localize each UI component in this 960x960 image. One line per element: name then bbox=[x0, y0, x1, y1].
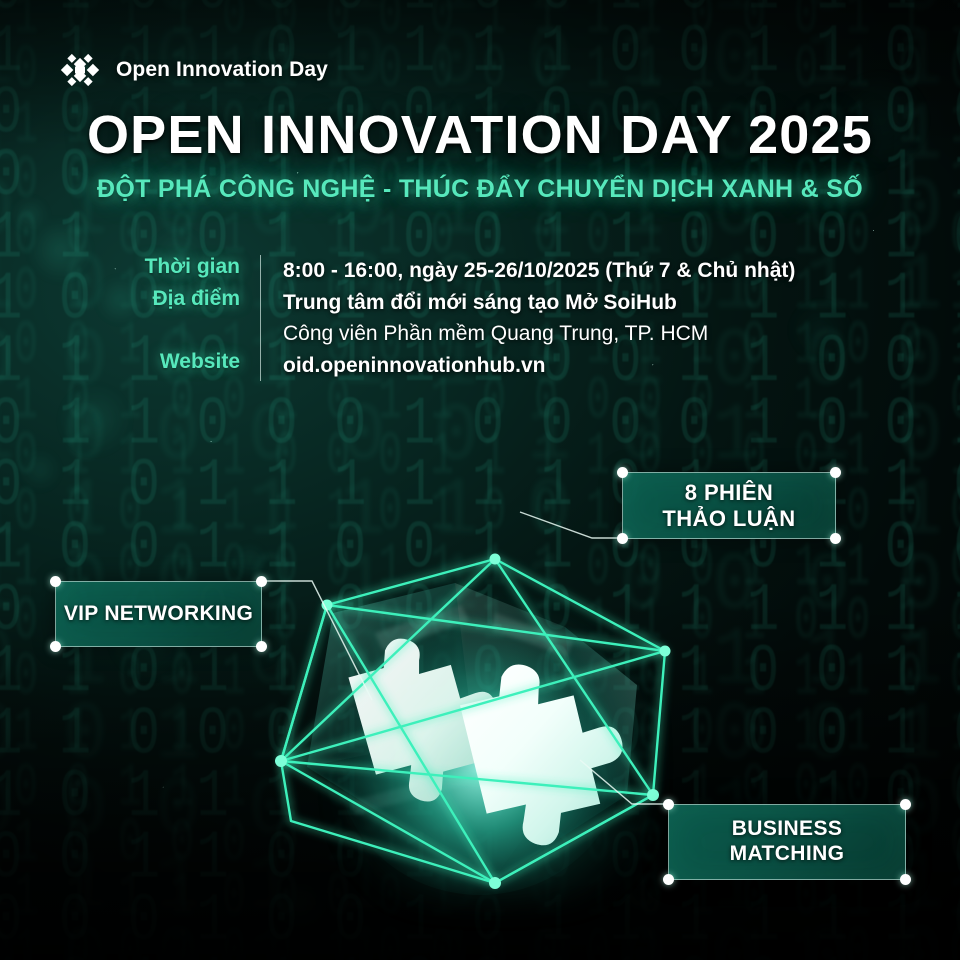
badge-corner-dot bbox=[830, 533, 841, 544]
badge-business-line1: BUSINESS bbox=[730, 817, 845, 842]
badge-sessions-line1: 8 PHIÊN bbox=[662, 480, 795, 506]
info-value-website: oid.openinnovationhub.vn bbox=[261, 350, 795, 382]
open-innovation-x-mark-icon bbox=[60, 50, 100, 90]
brand-lockup: Open Innovation Day bbox=[60, 50, 328, 90]
badge-business-line2: MATCHING bbox=[730, 842, 845, 867]
callout-badge-vip-networking[interactable]: VIP NETWORKING bbox=[55, 581, 262, 647]
page-title: OPEN INNOVATION DAY 2025 bbox=[0, 108, 960, 163]
badge-corner-dot bbox=[617, 533, 628, 544]
badge-corner-dot bbox=[663, 874, 674, 885]
badge-corner-dot bbox=[900, 874, 911, 885]
callout-badge-sessions[interactable]: 8 PHIÊN THẢO LUẬN bbox=[622, 472, 836, 539]
info-place-secondary: Công viên Phần mềm Quang Trung, TP. HCM bbox=[283, 318, 795, 350]
callout-badge-business-matching[interactable]: BUSINESS MATCHING bbox=[668, 804, 906, 880]
info-label-website: Website bbox=[118, 350, 260, 374]
badge-vip-line1: VIP NETWORKING bbox=[64, 602, 253, 627]
brand-name: Open Innovation Day bbox=[116, 58, 328, 82]
info-time-text: 8:00 - 16:00, ngày 25-26/10/2025 (Thứ 7 … bbox=[283, 255, 795, 287]
info-value-time: 8:00 - 16:00, ngày 25-26/10/2025 (Thứ 7 … bbox=[261, 255, 795, 287]
website-url[interactable]: oid.openinnovationhub.vn bbox=[283, 350, 795, 382]
info-label-time: Thời gian bbox=[118, 255, 260, 279]
info-place-primary: Trung tâm đổi mới sáng tạo Mở SoiHub bbox=[283, 287, 795, 319]
badge-corner-dot bbox=[256, 641, 267, 652]
page-subtitle: ĐỘT PHÁ CÔNG NGHỆ - THÚC ĐẨY CHUYỂN DỊCH… bbox=[0, 175, 960, 204]
info-value-place: Trung tâm đổi mới sáng tạo Mở SoiHub Côn… bbox=[261, 287, 795, 350]
badge-corner-dot bbox=[50, 641, 61, 652]
poster-canvas: 1 0 1 0 0 0 1 1 1 0 0 0 0 0 1 0 1 1 0 0 … bbox=[0, 0, 960, 960]
event-info-table: Thời gian 8:00 - 16:00, ngày 25-26/10/20… bbox=[118, 255, 795, 381]
info-label-place: Địa điểm bbox=[118, 287, 260, 311]
badge-sessions-line2: THẢO LUẬN bbox=[662, 506, 795, 532]
title-block: OPEN INNOVATION DAY 2025 ĐỘT PHÁ CÔNG NG… bbox=[0, 108, 960, 204]
